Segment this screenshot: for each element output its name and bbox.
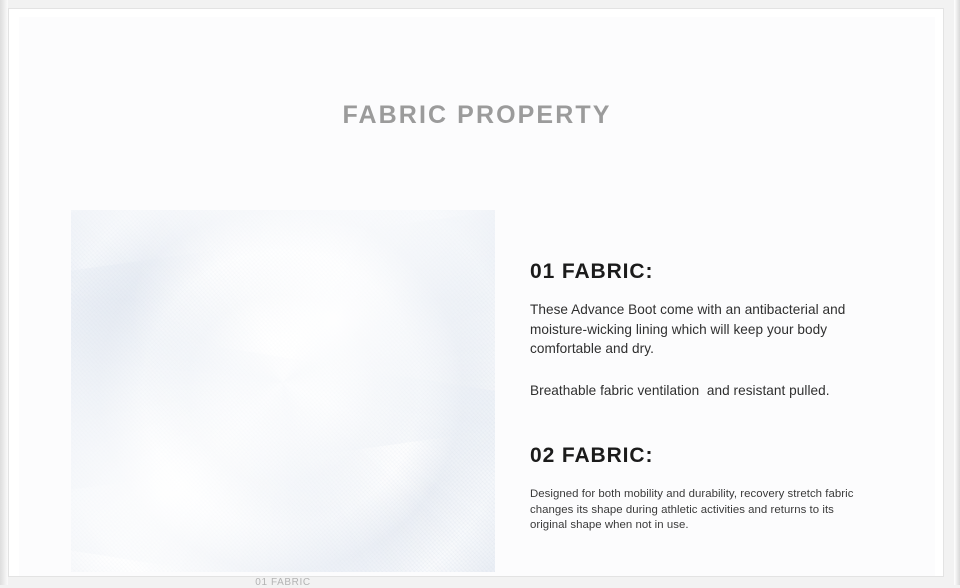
- fabric-description-column: 01 FABRIC: These Advance Boot come with …: [530, 260, 860, 534]
- fabric-block-1-heading: 01 FABRIC:: [530, 260, 860, 284]
- fabric-block-2-heading: 02 FABRIC:: [530, 444, 860, 468]
- fabric-image: [71, 210, 495, 572]
- page-frame-right-edge: [954, 0, 960, 585]
- fabric-block-1-paragraph-1: These Advance Boot come with an antibact…: [530, 300, 860, 359]
- page-frame: FABRIC PROPERTY 01 FABRIC 01 FABRIC: The…: [8, 8, 944, 577]
- page-title: FABRIC PROPERTY: [19, 101, 935, 130]
- fabric-photo: [71, 210, 495, 572]
- fabric-block-1-paragraph-2: Breathable fabric ventilation and resist…: [530, 381, 860, 401]
- fabric-image-caption: 01 FABRIC: [71, 577, 495, 588]
- page-canvas: FABRIC PROPERTY 01 FABRIC 01 FABRIC: The…: [19, 17, 935, 576]
- fabric-highlight-sheen: [71, 210, 495, 572]
- fabric-block-2-paragraph-1: Designed for both mobility and durabilit…: [530, 487, 860, 534]
- page-frame-left-edge: [0, 0, 8, 585]
